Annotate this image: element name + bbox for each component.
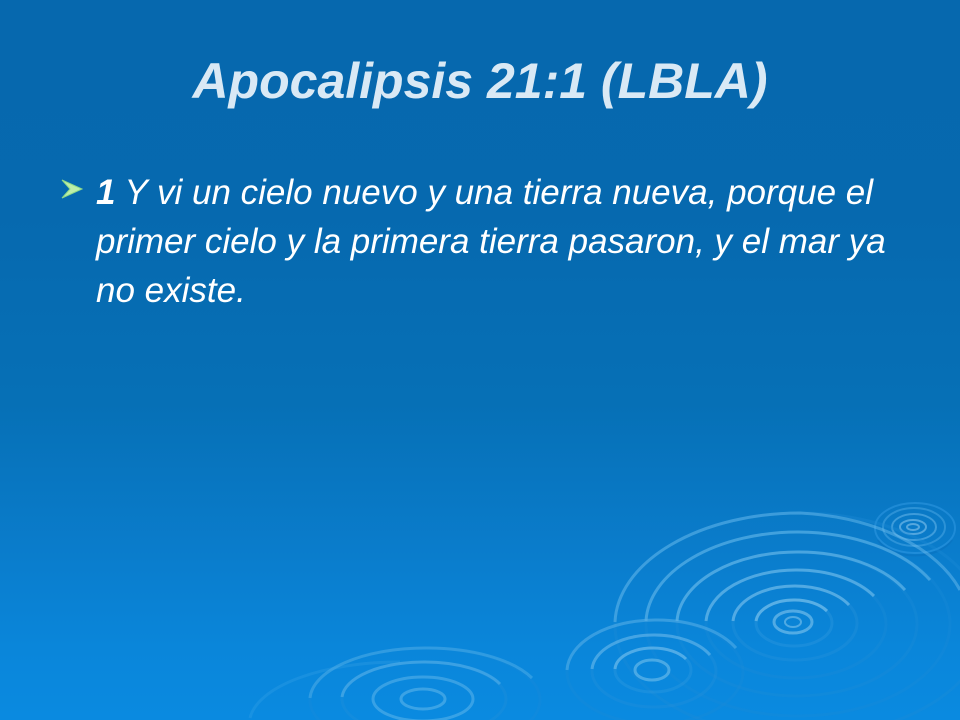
- presentation-slide: Apocalipsis 21:1 (LBLA) 1 Y vi un cielo …: [0, 0, 960, 720]
- arrowhead-bullet-icon: [58, 174, 88, 204]
- ripple-faint-bottomleft: [250, 662, 400, 718]
- page-title: Apocalipsis 21:1 (LBLA): [192, 52, 767, 110]
- ripple-small-topright: [875, 503, 955, 556]
- verse-text: Y vi un cielo nuevo y una tierra nueva, …: [96, 173, 886, 310]
- title-placeholder: Apocalipsis 21:1 (LBLA): [0, 52, 960, 110]
- ripple-large-center: [615, 513, 960, 720]
- body-placeholder: 1 Y vi un cielo nuevo y una tierra nueva…: [52, 168, 912, 315]
- list-item-text: 1 Y vi un cielo nuevo y una tierra nueva…: [96, 168, 912, 315]
- ripple-medium-left: [567, 620, 743, 720]
- list-item: 1 Y vi un cielo nuevo y una tierra nueva…: [52, 168, 912, 315]
- ripple-wide-bottom: [310, 648, 540, 720]
- verse-number: 1: [96, 173, 115, 212]
